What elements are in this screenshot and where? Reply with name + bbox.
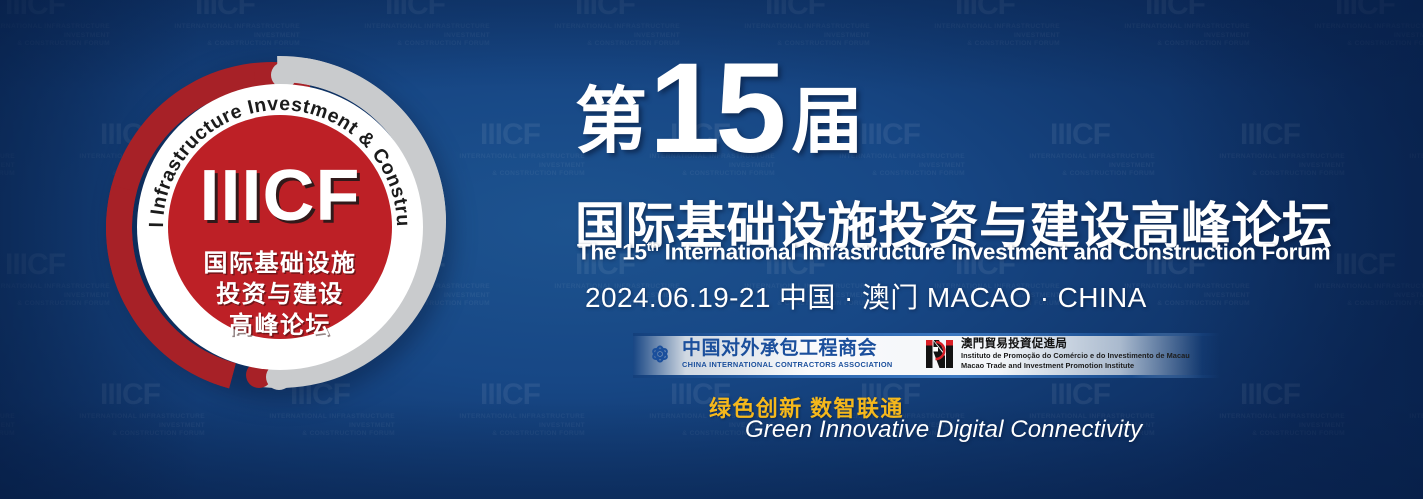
ipim-name-en: Macao Trade and Investment Promotion Ins… (961, 361, 1190, 370)
ipim-monogram-icon (925, 339, 954, 369)
iiicf-logo: International Infrastructure Investment … (106, 52, 454, 400)
organizer-logo-bar: 中国对外承包工程商会 CHINA INTERNATIONAL CONTRACTO… (633, 333, 1220, 378)
logo-cn-line-1: 国际基础设施 (106, 248, 454, 279)
banner-content: 第 15 届 国际基础设施投资与建设高峰论坛 The 15th Internat… (575, 0, 1423, 499)
title-en-pre: The 15 (577, 240, 647, 265)
ipim-text-block: 澳門貿易投資促進局 Instituto de Promoção do Comér… (961, 338, 1190, 370)
date-and-location: 2024.06.19-21 中国 · 澳门 MACAO · CHINA (585, 276, 1147, 316)
conference-banner: IIICFINTERNATIONAL INFRASTRUCTURE INVEST… (0, 0, 1423, 499)
organizer-chinca: 中国对外承包工程商会 CHINA INTERNATIONAL CONTRACTO… (645, 339, 893, 369)
logo-acronym: IIICF (106, 160, 454, 232)
logo-chinese-name: 国际基础设施 投资与建设 高峰论坛 (106, 248, 454, 342)
edition-prefix: 第 (575, 88, 647, 156)
org-bar-top-edge (633, 333, 1220, 336)
logo-cn-line-3: 高峰论坛 (106, 310, 454, 341)
chinca-name-en: CHINA INTERNATIONAL CONTRACTORS ASSOCIAT… (682, 360, 893, 369)
forum-title-english: The 15th International Infrastructure In… (577, 239, 1330, 266)
tagline-english: Green Innovative Digital Connectivity (745, 416, 1142, 444)
chinca-text-block: 中国对外承包工程商会 CHINA INTERNATIONAL CONTRACTO… (682, 339, 893, 369)
ipim-name-cn: 澳門貿易投資促進局 (961, 338, 1190, 351)
org-bar-bottom-edge (633, 375, 1220, 378)
chinca-name-cn: 中国对外承包工程商会 (682, 339, 893, 359)
organizer-ipim: 澳門貿易投資促進局 Instituto de Promoção do Comér… (925, 338, 1190, 370)
edition-headline: 第 15 届 (575, 58, 863, 160)
ipim-name-pt: Instituto de Promoção do Comércio e do I… (961, 351, 1190, 360)
chinca-flower-icon (645, 339, 675, 369)
edition-number: 15 (649, 58, 781, 160)
title-en-ordinal: th (647, 239, 659, 254)
edition-suffix: 届 (791, 88, 863, 156)
logo-cn-line-2: 投资与建设 (106, 279, 454, 310)
title-en-post: International Infrastructure Investment … (659, 240, 1331, 265)
